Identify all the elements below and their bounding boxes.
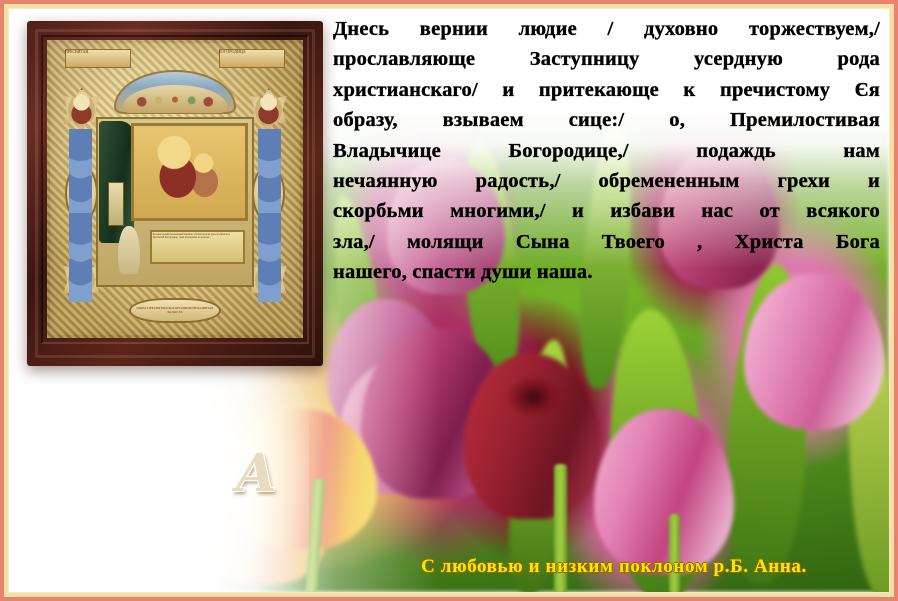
window-detail (108, 182, 124, 226)
tulip-stem (669, 514, 680, 592)
prayer-text-block: Днесь вернии людие / духовно торжествуем… (333, 14, 880, 288)
floral-ornament (69, 129, 92, 218)
signature-text: С любовью и низким поклоном р.Б. Анна. (340, 556, 888, 578)
prayer-line: Днесь вернии людие / духовно торжествуем… (333, 14, 880, 44)
icon-center-panel: Человек некий беззаконный имеяше обычай … (96, 117, 255, 287)
floral-ornament (69, 213, 92, 302)
icon-title-bar: ПРЕСВЯТАЯ БОГОРОДИЦА (65, 49, 285, 68)
prayer-line: нашего, спасти души наша. (333, 257, 880, 287)
greeting-card: ПРЕСВЯТАЯ БОГОРОДИЦА Человек некий безза… (0, 0, 898, 601)
floral-ornament (258, 213, 281, 302)
theotokos-with-child (131, 123, 248, 222)
prayer-line: нечаянную радость,/ обремененным грехи и (333, 166, 880, 196)
kneeling-figure (118, 226, 140, 274)
arch-figures (123, 85, 226, 113)
icon-wooden-frame: ПРЕСВЯТАЯ БОГОРОДИЦА Человек некий безза… (27, 21, 323, 366)
prayer-line: прославляюще Заступницу усердную рода (333, 44, 880, 74)
icon-gilded-plate: ПРЕСВЯТАЯ БОГОРОДИЦА Человек некий безза… (47, 40, 303, 338)
icon-title-left: ПРЕСВЯТАЯ (65, 49, 131, 68)
icon-scroll-text: Человек некий беззаконный имеяше обычай … (150, 230, 245, 264)
monogram-letter-a: A (236, 448, 276, 500)
prayer-line: зла,/ молящи Сына Твоего , Христа Бога (333, 227, 880, 257)
icon-cartouche-label: ОБРАЗ ПРЕСВЯТЫЯ БОГОРОДИЦЫ НЕЧАЯННАЯ РАД… (129, 298, 221, 323)
prayer-line: Владычице Богородице,/ подаждь нам (333, 136, 880, 166)
prayer-line: христианскаго/ и притекающе к пречистому… (333, 75, 880, 105)
floral-ornament (258, 129, 281, 218)
prayer-line: скорбьми многими,/ и избави нас от всяко… (333, 196, 880, 226)
icon-title-right: БОГОРОДИЦА (219, 49, 285, 68)
prayer-line: образу, взываем сице:/ о, Премилостивая (333, 105, 880, 135)
